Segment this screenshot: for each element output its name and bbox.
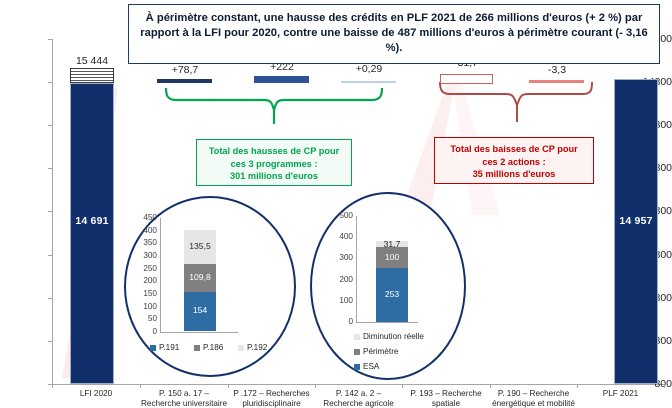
inset-left-ytick-150: 150 bbox=[124, 290, 157, 298]
inset-left-value-p191: 154 bbox=[184, 305, 216, 315]
inset-right-legend-label-perimetre: Périmètre bbox=[363, 347, 399, 356]
summary-banner: À périmètre constant, une hausse des cré… bbox=[128, 4, 660, 64]
inset-left-value-p192: 135,5 bbox=[184, 241, 216, 251]
x-axis-line bbox=[52, 384, 664, 385]
inset-right-ytick-100: 100 bbox=[320, 297, 353, 305]
inset-right-y-axis bbox=[356, 216, 357, 322]
x-label-plf-2021: PLF 2021 bbox=[577, 389, 664, 399]
x-label-p193: P. 193 – Recherche spatiale bbox=[402, 389, 490, 408]
callout-hausses-line2: ces 3 programmes : bbox=[197, 158, 351, 171]
bar-total-label-lfi-2020: 15 444 bbox=[62, 55, 122, 67]
x-tickmark bbox=[577, 384, 578, 388]
inset-right-value-diminution-reelle: 31,7 bbox=[376, 239, 408, 249]
x-tickmark bbox=[228, 384, 229, 388]
inset-left-ytick-300: 300 bbox=[124, 252, 157, 260]
inset-right-legend-diminution-reelle[interactable]: Diminution réelle bbox=[354, 332, 424, 341]
inset-left-ytick-0: 0 bbox=[124, 328, 157, 336]
x-label-p190: P. 190 – Recherche énergétique et mobili… bbox=[487, 389, 580, 408]
bar-value-p150: +78,7 bbox=[152, 64, 218, 76]
bar-plf-2021[interactable]: 14 957 bbox=[614, 79, 658, 384]
bar-p193-recherche-spatiale[interactable] bbox=[440, 74, 493, 84]
x-tickmark bbox=[52, 384, 53, 388]
x-label-p172: P .172 – Recherches pluridisciplinaire bbox=[228, 389, 315, 408]
x-tickmark bbox=[315, 384, 316, 388]
bar-p142-recherche-agricole[interactable] bbox=[341, 81, 396, 83]
x-tickmark bbox=[490, 384, 491, 388]
inset-left-y-axis bbox=[160, 218, 161, 332]
y-tickmark bbox=[48, 341, 52, 342]
inset-left-value-p186: 109,8 bbox=[184, 272, 216, 282]
summary-banner-line2: rapport à la LFI pour 2020, contre une b… bbox=[137, 26, 651, 56]
inset-right-segment-esa[interactable]: 253 bbox=[376, 268, 408, 322]
inset-right-ytick-0: 0 bbox=[320, 318, 353, 326]
bar-value-lfi-2020: 14 691 bbox=[71, 215, 113, 227]
legend-swatch-icon bbox=[354, 349, 360, 355]
inset-left-legend-p186[interactable]: P.186 bbox=[194, 343, 223, 352]
inset-right-legend-label-esa: ESA bbox=[363, 362, 379, 371]
inset-left-ytick-50: 50 bbox=[124, 315, 157, 323]
inset-left-legend-label-p192: P.192 bbox=[247, 343, 267, 352]
legend-swatch-icon bbox=[194, 345, 200, 351]
inset-right-ytick-200: 200 bbox=[320, 276, 353, 284]
x-tickmark bbox=[140, 384, 141, 388]
callout-hausses: Total des hausses de CP pour ces 3 progr… bbox=[196, 139, 352, 186]
y-tickmark bbox=[48, 211, 52, 212]
x-tickmark bbox=[402, 384, 403, 388]
inset-left-x-axis bbox=[160, 332, 238, 333]
inset-left-ytick-200: 200 bbox=[124, 277, 157, 285]
inset-right-legend-perimetre[interactable]: Périmètre bbox=[354, 347, 399, 356]
bar-lfi-2020[interactable]: 14 691 bbox=[70, 83, 114, 384]
inset-left-legend-p192[interactable]: P.192 bbox=[238, 343, 267, 352]
callout-baisses-line3: 35 millions d'euros bbox=[435, 168, 593, 181]
legend-swatch-icon bbox=[238, 345, 244, 351]
inset-left-ytick-450: 450 bbox=[124, 214, 157, 222]
inset-left-chart: 450 400 350 300 250 200 150 100 50 0 154… bbox=[124, 196, 296, 377]
y-tickmark bbox=[48, 168, 52, 169]
inset-right-chart: 500 400 300 200 100 0 253 100 31,7 Dimin… bbox=[310, 192, 466, 380]
legend-swatch-icon bbox=[354, 334, 360, 340]
x-label-p150: P. 150 a. 17 – Recherche universitaire bbox=[140, 389, 228, 408]
inset-left-segment-p186[interactable]: 109,8 bbox=[184, 264, 216, 292]
inset-left-legend-label-p191: P.191 bbox=[159, 343, 179, 352]
y-tickmark bbox=[48, 39, 52, 40]
inset-right-x-axis bbox=[356, 322, 418, 323]
y-tickmark bbox=[48, 255, 52, 256]
inset-right-ytick-400: 400 bbox=[320, 233, 353, 241]
callout-baisses-line1: Total des baisses de CP pour bbox=[435, 143, 593, 156]
callout-baisses-line2: ces 2 actions : bbox=[435, 156, 593, 169]
inset-right-segment-diminution-reelle[interactable]: 31,7 bbox=[376, 241, 408, 248]
inset-right-value-esa: 253 bbox=[376, 289, 408, 299]
inset-right-legend-label-diminution: Diminution réelle bbox=[363, 332, 424, 341]
inset-left-ytick-400: 400 bbox=[124, 227, 157, 235]
callout-hausses-line3: 301 millions d'euros bbox=[197, 170, 351, 183]
bar-value-p142: +0,29 bbox=[336, 63, 402, 75]
callout-baisses: Total des baisses de CP pour ces 2 actio… bbox=[434, 137, 594, 184]
x-tickmark bbox=[664, 384, 665, 388]
inset-right-ytick-300: 300 bbox=[320, 254, 353, 262]
inset-left-ytick-350: 350 bbox=[124, 239, 157, 247]
y-tickmark bbox=[48, 298, 52, 299]
bar-cap-lfi-2020-striped bbox=[70, 68, 114, 83]
inset-right-value-perimetre: 100 bbox=[376, 252, 408, 262]
inset-left-ytick-250: 250 bbox=[124, 265, 157, 273]
legend-swatch-icon bbox=[354, 364, 360, 370]
bar-p150-recherche-universitaire[interactable] bbox=[157, 79, 212, 83]
y-tickmark bbox=[48, 125, 52, 126]
inset-right-legend-esa[interactable]: ESA bbox=[354, 362, 379, 371]
x-label-p142: P. 142 a. 2 – Recherche agricole bbox=[315, 389, 402, 408]
y-tickmark bbox=[48, 82, 52, 83]
inset-left-legend-p191[interactable]: P.191 bbox=[150, 343, 179, 352]
inset-left-segment-p191[interactable]: 154 bbox=[184, 292, 216, 331]
summary-banner-line1: À périmètre constant, une hausse des cré… bbox=[137, 11, 651, 26]
inset-left-segment-p192[interactable]: 135,5 bbox=[184, 230, 216, 264]
x-label-lfi-2020: LFI 2020 bbox=[52, 389, 140, 399]
bar-p172-recherches-pluridisciplinaire[interactable] bbox=[254, 76, 309, 83]
inset-right-ytick-500: 500 bbox=[320, 212, 353, 220]
y-axis-line bbox=[52, 39, 53, 384]
legend-swatch-icon bbox=[150, 345, 156, 351]
bar-p190-recherche-energetique[interactable] bbox=[529, 80, 584, 83]
bar-value-plf-2021: 14 957 bbox=[615, 215, 657, 227]
callout-hausses-line1: Total des hausses de CP pour bbox=[197, 145, 351, 158]
bar-value-p190: -3,3 bbox=[524, 64, 590, 76]
inset-right-segment-perimetre[interactable]: 100 bbox=[376, 247, 408, 268]
inset-left-legend-label-p186: P.186 bbox=[203, 343, 223, 352]
inset-left-ytick-100: 100 bbox=[124, 303, 157, 311]
